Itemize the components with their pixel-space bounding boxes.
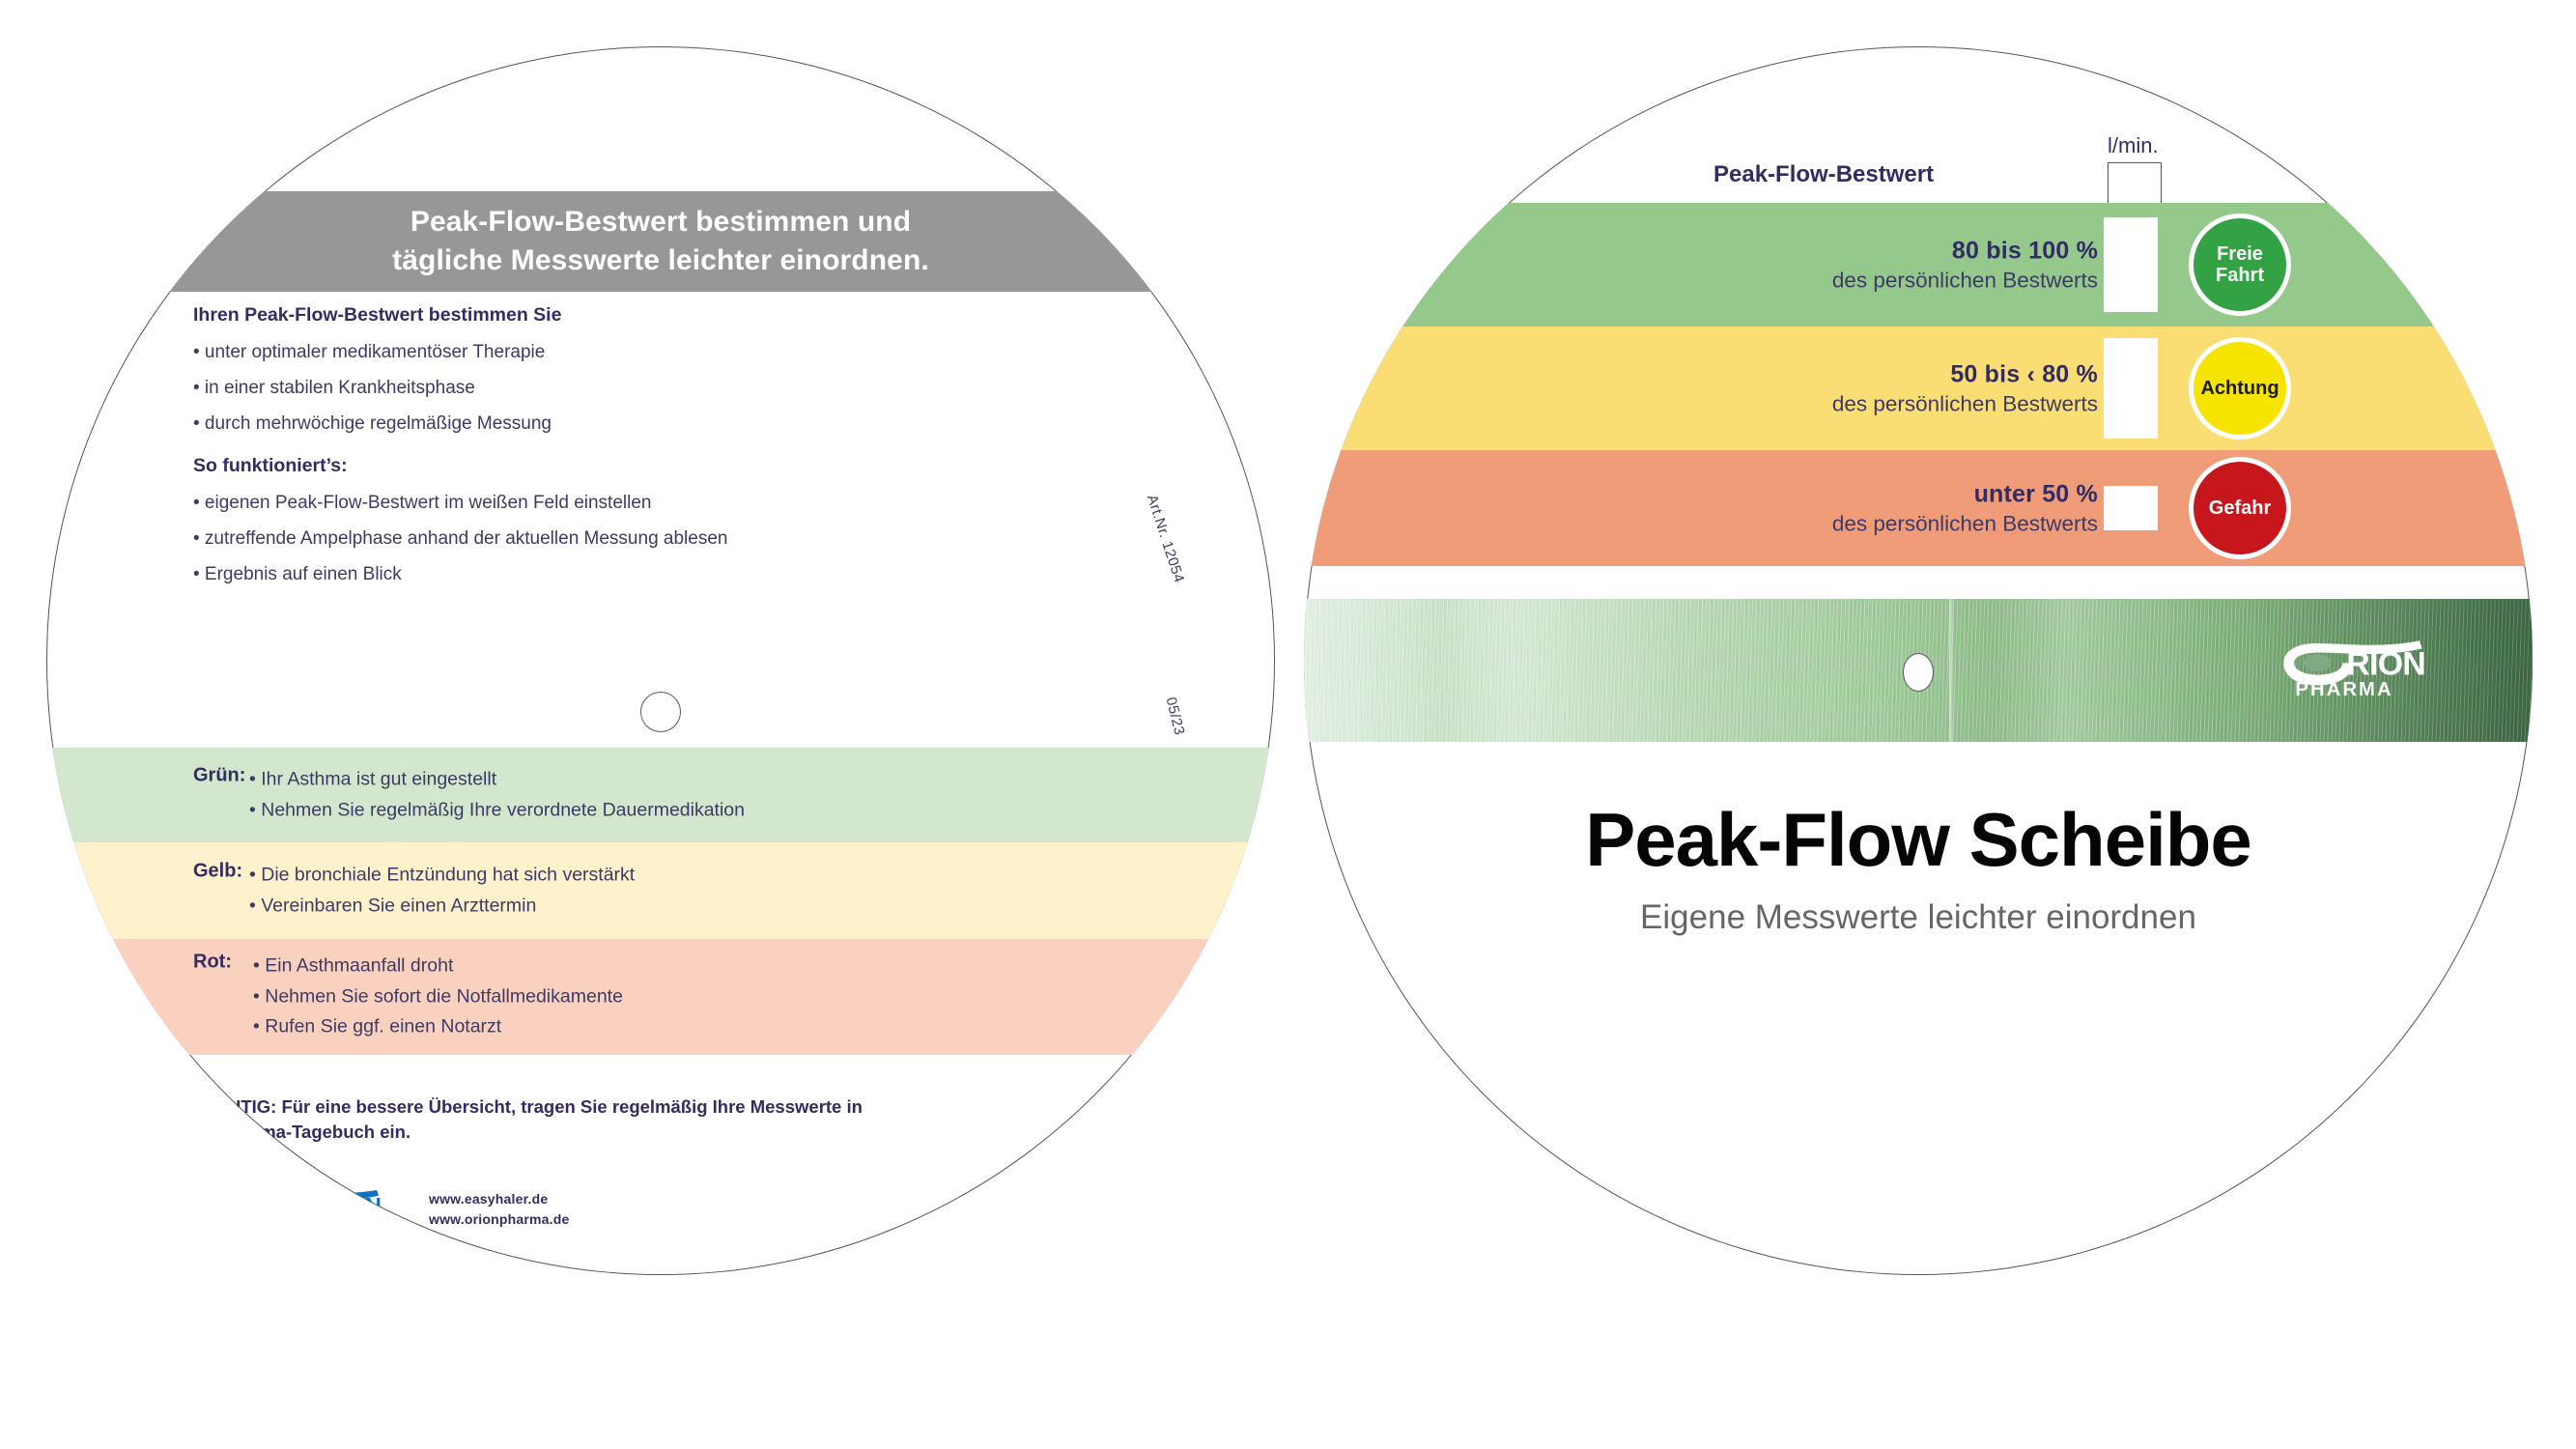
zone-band-red: Rot: • Ein Asthmaanfall droht • Nehmen S… [46, 939, 1275, 1055]
zone-item: • Rufen Sie ggf. einen Notarzt [253, 1012, 623, 1043]
left-disc-center-hole[interactable] [640, 692, 681, 732]
date-code: 05/23 [1163, 696, 1188, 737]
svg-text:PHARMA: PHARMA [2295, 679, 2392, 700]
zone-item: • Vereinbaren Sie einen Arzttermin [249, 891, 635, 922]
value-window-yellow[interactable] [2104, 338, 2158, 439]
value-window-red[interactable] [2104, 486, 2158, 530]
zone-items-green: • Ihr Asthma ist gut eingestellt • Nehme… [249, 764, 745, 825]
instructions-heading-2: So funktioniert’s: [193, 454, 908, 477]
left-website-urls: www.easyhaler.de www.orionpharma.de [429, 1189, 569, 1230]
page-title: Peak-Flow Scheibe [1304, 796, 2533, 884]
zone-item: • Die bronchiale Entzündung hat sich ver… [249, 860, 635, 891]
zone-item: • Ihr Asthma ist gut eingestellt [249, 764, 745, 795]
left-instructions-block: Ihren Peak-Flow-Bestwert bestimmen Sie •… [193, 303, 908, 592]
zone-row-green: Grün: • Ihr Asthma ist gut eingestellt •… [193, 764, 745, 825]
range-percent-yellow: 50 bis ‹ 80 % [1832, 358, 2098, 389]
left-header-line-2: tägliche Messwerte leichter einordnen. [392, 241, 929, 280]
zone-row-red: Rot: • Ein Asthmaanfall droht • Nehmen S… [193, 952, 623, 1043]
left-footer: RION PHARMA www.easyhaler.de www.orionph… [267, 1181, 569, 1236]
traffic-light-yellow-text: Achtung [2200, 378, 2279, 399]
unit-label: l/min. [2108, 133, 2159, 158]
best-value-row: Peak-Flow-Bestwert l/min. [1304, 151, 2533, 203]
svg-text:RION: RION [2346, 646, 2425, 683]
zone-label-yellow: Gelb: [193, 860, 249, 921]
orion-pharma-logo-icon: RION PHARMA [267, 1181, 390, 1236]
best-value-input-box[interactable] [2108, 162, 2162, 207]
right-disc-front-side: Peak-Flow-Bestwert l/min. 80 bis 100 % d… [1304, 46, 2533, 1275]
zone-item: • Ein Asthmaanfall droht [253, 952, 623, 982]
zone-item: • Nehmen Sie regelmäßig Ihre verordnete … [249, 795, 745, 826]
traffic-light-yellow: Achtung [2189, 337, 2291, 440]
left-header-band: Peak-Flow-Bestwert bestimmen und täglich… [46, 191, 1275, 292]
zone-row-yellow: Gelb: • Die bronchiale Entzündung hat si… [193, 860, 635, 921]
range-subtitle-yellow: des persönlichen Bestwerts [1832, 389, 2098, 417]
instructions-bullet: • durch mehrwöchige regelmäßige Messung [193, 406, 908, 441]
instructions-bullet: • in einer stabilen Krankheitsphase [193, 370, 908, 406]
instructions-bullet: • eigenen Peak-Flow-Bestwert im weißen F… [193, 485, 908, 521]
article-number: Art.Nr. 12054 [1144, 493, 1187, 584]
range-subtitle-green: des persönlichen Bestwerts [1832, 266, 2098, 294]
zone-band-yellow: Gelb: • Die bronchiale Entzündung hat si… [46, 842, 1275, 939]
best-value-label: Peak-Flow-Bestwert [1713, 161, 1934, 188]
svg-text:RION: RION [324, 1194, 381, 1220]
leaf-photo-band: RION PHARMA [1304, 599, 2533, 742]
zone-band-green: Grün: • Ihr Asthma ist gut eingestellt •… [46, 748, 1275, 842]
important-note: WICHTIG: Für eine bessere Übersicht, tra… [193, 1094, 869, 1146]
range-text-red: unter 50 % des persönlichen Bestwerts [1832, 478, 2098, 537]
traffic-light-red: Gefahr [2189, 457, 2291, 559]
value-window-green[interactable] [2104, 217, 2158, 312]
range-band-green: 80 bis 100 % des persönlichen Bestwerts … [1304, 203, 2533, 327]
svg-text:PHARMA: PHARMA [287, 1218, 357, 1232]
traffic-light-green: Freie Fahrt [2189, 213, 2291, 316]
range-percent-red: unter 50 % [1832, 478, 2098, 509]
orion-pharma-logo-icon: RION PHARMA [2268, 626, 2438, 706]
left-disc-back-side: Peak-Flow-Bestwert bestimmen und täglich… [46, 46, 1275, 1275]
instructions-heading-1: Ihren Peak-Flow-Bestwert bestimmen Sie [193, 303, 908, 327]
leaf-vein-decoration [1949, 599, 1954, 742]
zone-items-yellow: • Die bronchiale Entzündung hat sich ver… [249, 860, 635, 921]
range-band-red: unter 50 % des persönlichen Bestwerts Ge… [1304, 450, 2533, 566]
url-orionpharma[interactable]: www.orionpharma.de [429, 1209, 569, 1230]
spacer [193, 442, 908, 454]
instructions-bullet: • zutreffende Ampelphase anhand der aktu… [193, 521, 908, 556]
instructions-bullet: • Ergebnis auf einen Blick [193, 556, 908, 592]
zone-items-red: • Ein Asthmaanfall droht • Nehmen Sie so… [253, 952, 623, 1043]
zone-label-red: Rot: [193, 952, 253, 1043]
range-band-yellow: 50 bis ‹ 80 % des persönlichen Bestwerts… [1304, 327, 2533, 450]
zone-item: • Nehmen Sie sofort die Notfallmedikamen… [253, 981, 623, 1012]
range-subtitle-red: des persönlichen Bestwerts [1832, 509, 2098, 537]
range-text-green: 80 bis 100 % des persönlichen Bestwerts [1832, 235, 2098, 294]
page-subtitle: Eigene Messwerte leichter einordnen [1304, 898, 2533, 937]
instructions-bullet: • unter optimaler medikamentöser Therapi… [193, 334, 908, 370]
range-percent-green: 80 bis 100 % [1832, 235, 2098, 266]
url-easyhaler[interactable]: www.easyhaler.de [429, 1189, 569, 1209]
zone-label-green: Grün: [193, 764, 249, 825]
traffic-light-red-text: Gefahr [2209, 497, 2271, 519]
left-header-line-1: Peak-Flow-Bestwert bestimmen und [410, 203, 911, 241]
range-text-yellow: 50 bis ‹ 80 % des persönlichen Bestwerts [1832, 358, 2098, 417]
traffic-light-green-text: Freie Fahrt [2216, 243, 2264, 286]
right-disc-center-hole[interactable] [1903, 653, 1934, 692]
